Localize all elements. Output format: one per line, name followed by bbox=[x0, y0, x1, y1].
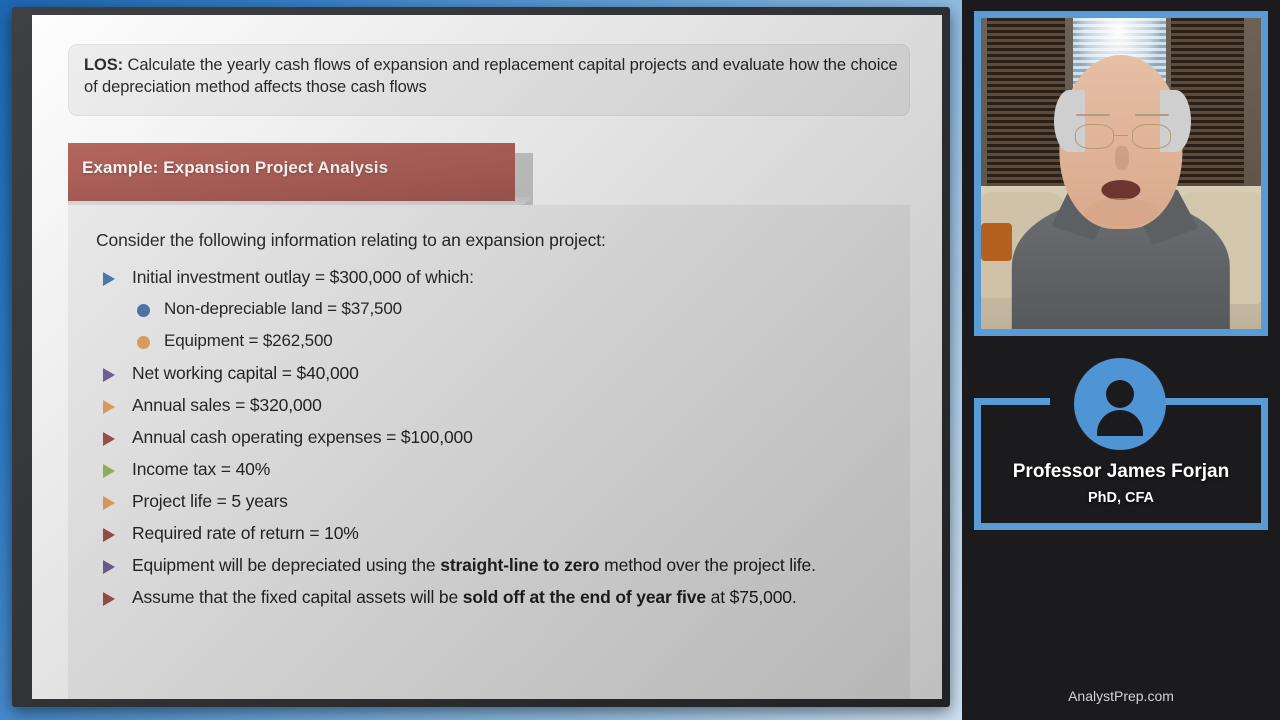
bullet-item: Equipment = $262,500 bbox=[96, 325, 896, 357]
los-body: Calculate the yearly cash flows of expan… bbox=[84, 56, 898, 96]
video-image bbox=[981, 18, 1261, 329]
bullet-item: Annual cash operating expenses = $100,00… bbox=[96, 421, 896, 453]
bullet-triangle-icon bbox=[103, 400, 115, 414]
slide-frame: LOS: Calculate the yearly cash flows of … bbox=[12, 7, 950, 707]
presenter-name: Professor James Forjan bbox=[981, 461, 1261, 483]
bullet-item: Non-depreciable land = $37,500 bbox=[96, 293, 896, 325]
bullet-text: Equipment = $262,500 bbox=[164, 331, 333, 350]
bullet-circle-icon bbox=[137, 304, 150, 317]
bullet-text: Required rate of return = 10% bbox=[132, 523, 359, 543]
bullet-text: Annual sales = $320,000 bbox=[132, 395, 322, 415]
avatar-body-icon bbox=[1097, 410, 1143, 436]
bullet-text: Income tax = 40% bbox=[132, 459, 270, 479]
bullet-triangle-icon bbox=[103, 560, 115, 574]
los-box: LOS: Calculate the yearly cash flows of … bbox=[68, 44, 910, 116]
bullet-item: Initial investment outlay = $300,000 of … bbox=[96, 261, 896, 293]
presenter-video[interactable] bbox=[974, 11, 1268, 336]
banner-body: Example: Expansion Project Analysis bbox=[68, 143, 515, 201]
bullet-item: Annual sales = $320,000 bbox=[96, 389, 896, 421]
bullet-text: Initial investment outlay = $300,000 of … bbox=[132, 267, 474, 287]
bullet-text: Project life = 5 years bbox=[132, 491, 288, 511]
bullet-item: Assume that the fixed capital assets wil… bbox=[96, 581, 896, 613]
bullet-item: Net working capital = $40,000 bbox=[96, 357, 896, 389]
los-prefix: LOS: bbox=[84, 56, 123, 74]
bullet-text: Non-depreciable land = $37,500 bbox=[164, 299, 402, 318]
bullet-circle-icon bbox=[137, 336, 150, 349]
website-label: AnalystPrep.com bbox=[962, 688, 1280, 704]
presenter-avatar bbox=[1074, 358, 1166, 450]
bullet-triangle-icon bbox=[103, 464, 115, 478]
content-panel: Consider the following information relat… bbox=[68, 205, 910, 699]
bullet-triangle-icon bbox=[103, 592, 115, 606]
bullet-triangle-icon bbox=[103, 432, 115, 446]
avatar-head-icon bbox=[1106, 380, 1134, 408]
bullet-text: Assume that the fixed capital assets wil… bbox=[132, 587, 797, 607]
bullet-triangle-icon bbox=[103, 272, 115, 286]
presenter-credentials: PhD, CFA bbox=[981, 490, 1261, 506]
bullet-list: Initial investment outlay = $300,000 of … bbox=[96, 261, 896, 613]
bullet-triangle-icon bbox=[103, 496, 115, 510]
slide-player: LOS: Calculate the yearly cash flows of … bbox=[0, 0, 1280, 720]
slide-background: LOS: Calculate the yearly cash flows of … bbox=[0, 0, 962, 720]
bullet-item: Project life = 5 years bbox=[96, 485, 896, 517]
bullet-item: Income tax = 40% bbox=[96, 453, 896, 485]
bullet-text: Annual cash operating expenses = $100,00… bbox=[132, 427, 473, 447]
bullet-triangle-icon bbox=[103, 528, 115, 542]
bullet-text: Net working capital = $40,000 bbox=[132, 363, 359, 383]
bullet-item: Required rate of return = 10% bbox=[96, 517, 896, 549]
bullet-text: Equipment will be depreciated using the … bbox=[132, 555, 816, 575]
bullet-item: Equipment will be depreciated using the … bbox=[96, 549, 896, 581]
banner-title: Example: Expansion Project Analysis bbox=[82, 158, 388, 178]
los-text: LOS: Calculate the yearly cash flows of … bbox=[84, 54, 899, 98]
slide-canvas: LOS: Calculate the yearly cash flows of … bbox=[32, 15, 942, 699]
intro-text: Consider the following information relat… bbox=[96, 230, 606, 251]
bullet-triangle-icon bbox=[103, 368, 115, 382]
